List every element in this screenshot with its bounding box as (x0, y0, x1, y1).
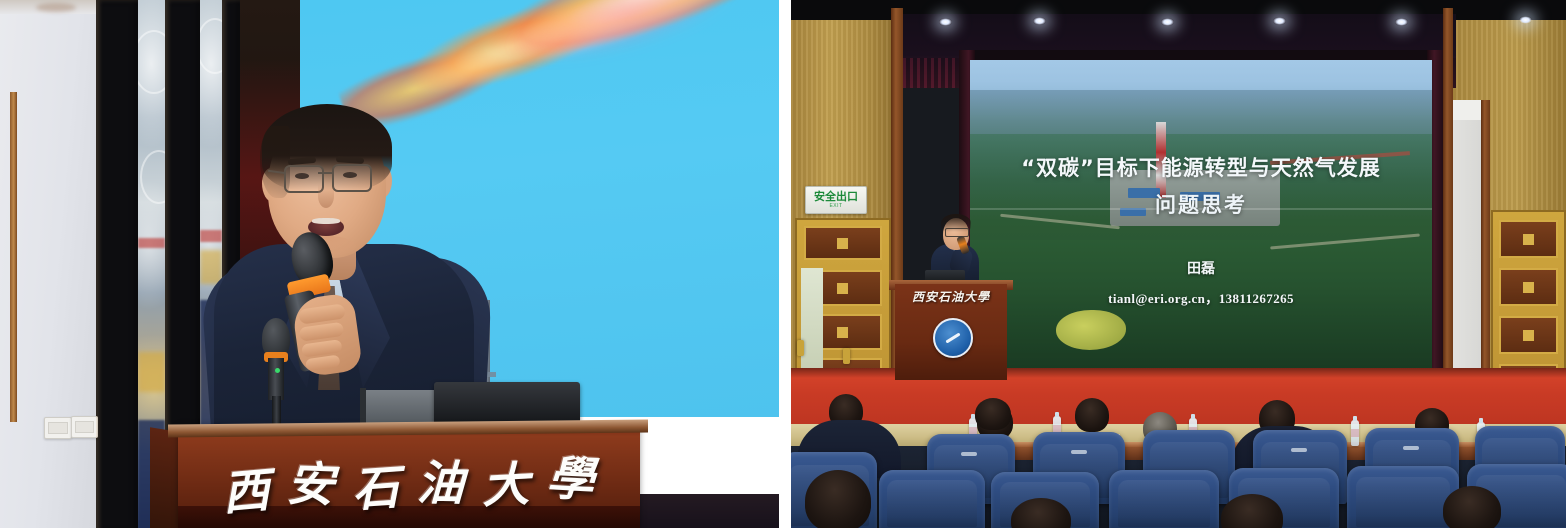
podium-char: 學 (545, 438, 599, 509)
podium-char: 油 (416, 444, 467, 514)
door-handle-icon[interactable] (843, 348, 850, 364)
audience-head-foreground (805, 470, 871, 532)
speaker-teeth (312, 218, 340, 224)
spotlight-icon (1395, 18, 1408, 26)
water-bottle (1351, 420, 1359, 446)
microphone-power-led (275, 368, 280, 373)
podium-char: 石 (350, 447, 403, 519)
spotlight-icon (1033, 17, 1046, 25)
panel-gutter (779, 0, 791, 532)
projection-screen: “双碳”目标下能源转型与天然气发展 问题思考 田磊 tianl@eri.org.… (970, 60, 1432, 370)
university-emblem-icon (933, 318, 973, 358)
light-switch-icon[interactable] (44, 417, 72, 439)
seat-number-tag (1291, 448, 1307, 452)
slide-author: 田磊 (970, 258, 1432, 278)
spotlight-icon (1273, 17, 1286, 25)
seat-number-tag (1071, 450, 1087, 454)
seat-number-tag (961, 452, 977, 456)
spotlight-icon (1161, 18, 1174, 26)
audience-head (1075, 398, 1109, 432)
slide-title-line-2: 问题思考 (970, 188, 1432, 222)
speaker-nose (318, 184, 334, 208)
bottom-edge-right (791, 528, 1566, 532)
podium-char: 安 (285, 444, 338, 515)
auditorium-seat[interactable] (1347, 466, 1459, 532)
exit-sign: 安全出口 EXIT (805, 186, 867, 214)
light-switch-icon[interactable] (71, 416, 98, 438)
right-photo-panel: 安全出口 EXIT (791, 0, 1566, 532)
exit-sign-cn: 安全出口 (814, 192, 858, 203)
audience-head-foreground (1443, 486, 1501, 532)
photo-composite: 西 安 石 油 大 學 (0, 0, 1566, 532)
audience-head (975, 398, 1011, 430)
door-handle-icon[interactable] (797, 340, 804, 356)
bottom-edge-left (0, 528, 779, 532)
podium-university-name: 西 安 石 油 大 學 (178, 440, 640, 520)
left-photo-panel: 西 安 石 油 大 學 (0, 0, 779, 532)
podium-char: 西 (220, 450, 274, 523)
stand-microphone-body (268, 358, 284, 400)
wood-pillar (96, 0, 138, 532)
wood-sliver (10, 92, 17, 422)
slide-contact: tianl@eri.org.cn，13811267265 (970, 288, 1432, 307)
eyeglasses-bridge (318, 172, 334, 174)
spotlight-icon (1519, 16, 1532, 24)
stage-speaker-glasses (945, 228, 969, 237)
eyeglasses-lens-right (332, 164, 372, 192)
slide-title-line-1: “双碳”目标下能源转型与天然气发展 (970, 148, 1432, 188)
stage-podium-university-name: 西安石油大學 (897, 288, 1005, 310)
podium-char: 大 (481, 445, 532, 516)
spotlight-icon (939, 18, 952, 26)
wall-stain (36, 3, 76, 12)
seat-number-tag (1403, 446, 1419, 450)
auditorium-seat[interactable] (879, 470, 985, 532)
exit-sign-en: EXIT (829, 203, 842, 209)
auditorium-seat[interactable] (1109, 470, 1219, 532)
